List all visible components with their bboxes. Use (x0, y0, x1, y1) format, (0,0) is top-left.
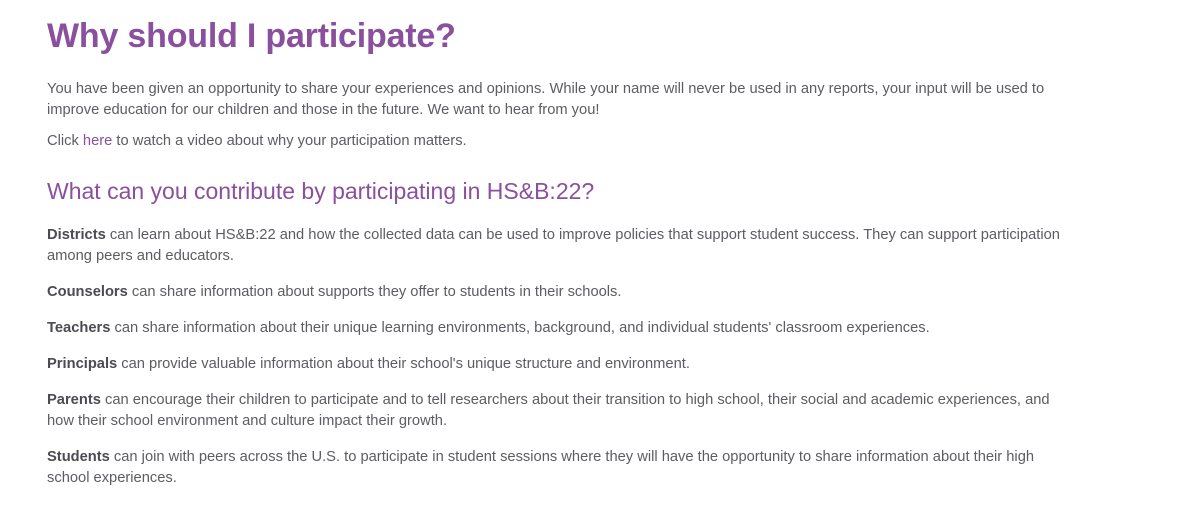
role-label-students: Students (47, 449, 110, 465)
role-description-parents: can encourage their children to particip… (47, 392, 1050, 429)
video-line-suffix: to watch a video about why your particip… (112, 133, 466, 149)
page-title: Why should I participate? (47, 0, 1130, 55)
role-description-students: can join with peers across the U.S. to p… (47, 449, 1034, 486)
intro-section: You have been given an opportunity to sh… (47, 55, 1130, 152)
role-label-districts: Districts (47, 227, 106, 243)
role-item-principals: Principals can provide valuable informat… (47, 339, 1072, 375)
role-description-principals: can provide valuable information about t… (117, 356, 690, 372)
roles-list: Districts can learn about HS&B:22 and ho… (47, 210, 1130, 489)
watch-video-link[interactable]: here (83, 133, 112, 149)
role-item-counselors: Counselors can share information about s… (47, 267, 1072, 303)
section-title-contribute: What can you contribute by participating… (47, 152, 1130, 210)
intro-paragraph: You have been given an opportunity to sh… (47, 65, 1072, 121)
role-label-principals: Principals (47, 356, 117, 372)
content-page: Why should I participate? You have been … (0, 0, 1178, 489)
role-item-parents: Parents can encourage their children to … (47, 375, 1072, 432)
role-item-students: Students can join with peers across the … (47, 432, 1072, 489)
role-item-districts: Districts can learn about HS&B:22 and ho… (47, 210, 1072, 267)
video-link-paragraph: Click here to watch a video about why yo… (47, 121, 1072, 152)
role-description-teachers: can share information about their unique… (110, 320, 929, 336)
role-label-teachers: Teachers (47, 320, 110, 336)
role-label-parents: Parents (47, 392, 101, 408)
role-description-districts: can learn about HS&B:22 and how the coll… (47, 227, 1060, 264)
role-description-counselors: can share information about supports the… (128, 284, 622, 300)
video-line-prefix: Click (47, 133, 83, 149)
role-item-teachers: Teachers can share information about the… (47, 303, 1072, 339)
role-label-counselors: Counselors (47, 284, 128, 300)
